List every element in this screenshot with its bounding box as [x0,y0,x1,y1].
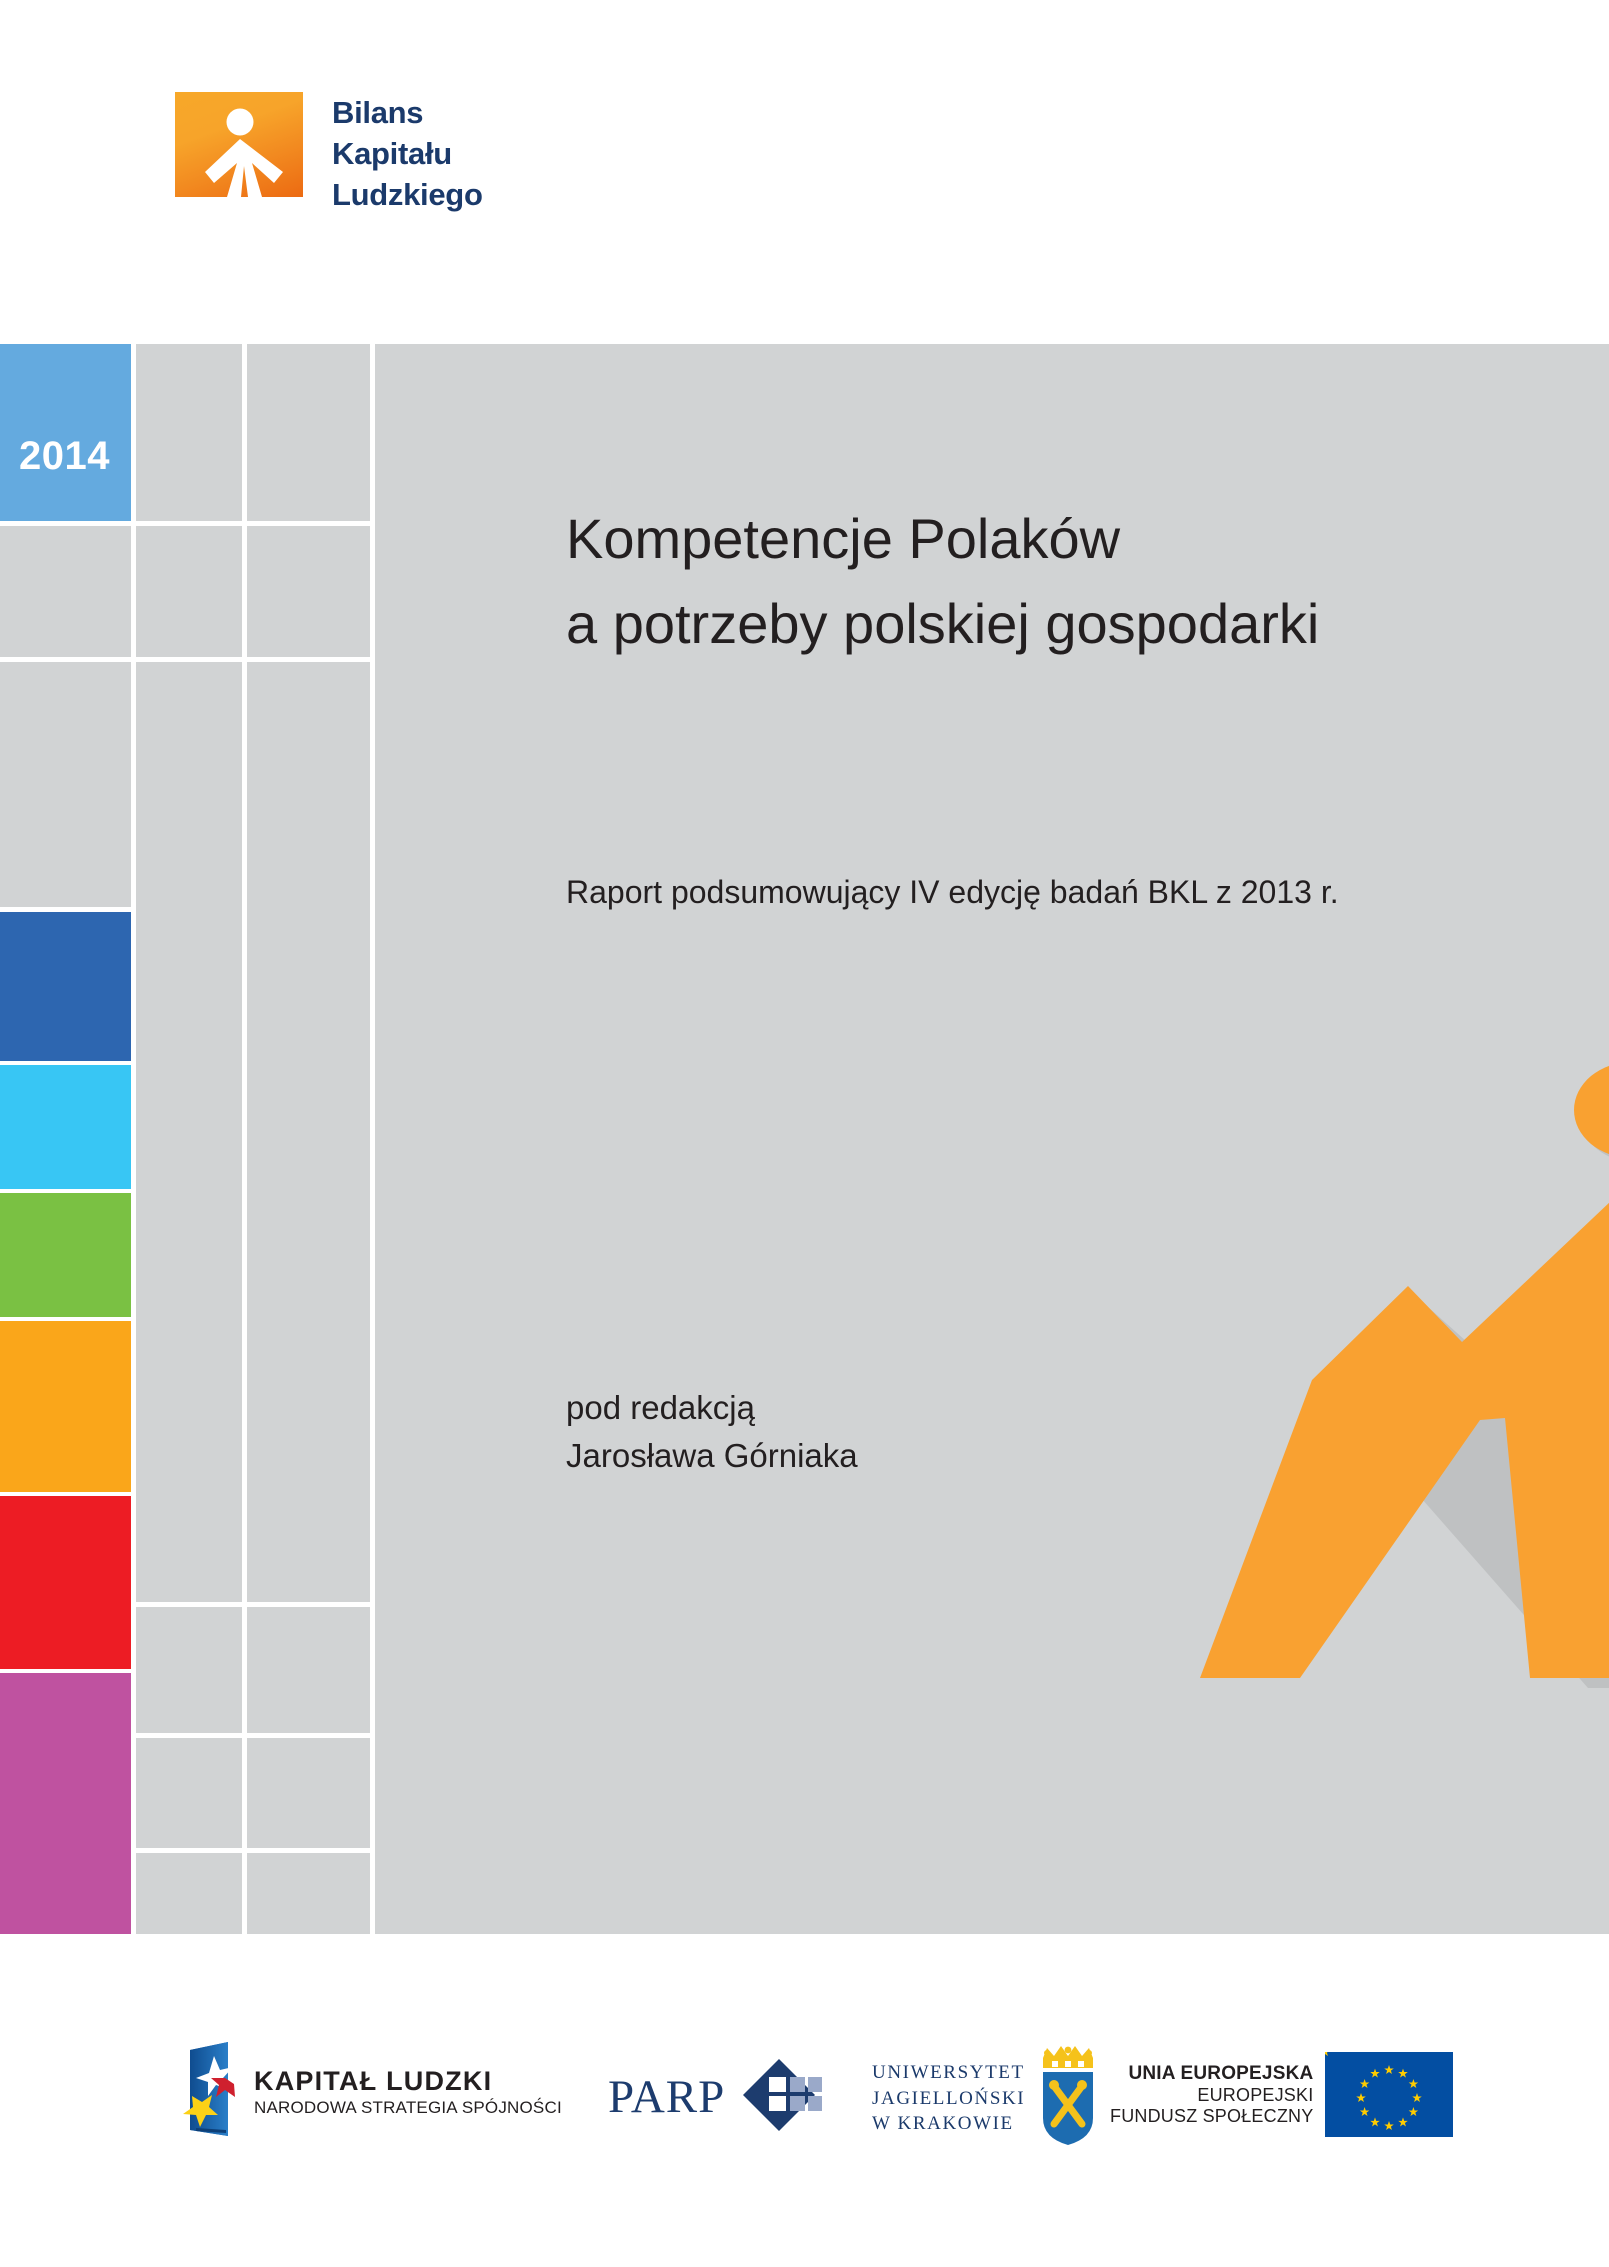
editor-line-2: Jarosława Górniaka [566,1432,858,1480]
kapital-ludzki-title: KAPITAŁ LUDZKI [254,2067,562,2095]
bkl-logo-text: Bilans Kapitału Ludzkiego [332,92,483,216]
eu-flag-icon [1325,2052,1453,2137]
bkl-logo: Bilans Kapitału Ludzkiego [175,92,483,216]
swatch-orange [0,1321,131,1492]
eu-line-2: EUROPEJSKI [1110,2085,1313,2106]
uj-line-3: W KRAKOWIE [872,2111,1025,2137]
editor-credit: pod redakcją Jarosława Górniaka [566,1384,858,1480]
page-subtitle: Raport podsumowujący IV edycję badań BKL… [566,874,1339,911]
parp-logo: PARP [608,2057,823,2138]
kapital-ludzki-subtitle: NARODOWA STRATEGIA SPÓJNOŚCI [254,2098,562,2118]
parp-diamond-icon [741,2057,823,2138]
eu-line-1: UNIA EUROPEJSKA [1110,2063,1313,2085]
year-badge: 2014 [0,344,131,521]
swatch-red [0,1496,131,1669]
brand-line-1: Bilans [332,92,483,133]
uj-logo: UNIWERSYTET JAGIELLOŃSKI W KRAKOWIE [872,2046,1099,2151]
stars-flag-icon [178,2040,240,2145]
grid-cell-c3-r6 [247,1853,370,1934]
eu-line-3: FUNDUSZ SPOŁECZNY [1110,2106,1313,2127]
cover-text-block: Kompetencje Polaków a potrzeby polskiej … [566,344,1566,1934]
page-title: Kompetencje Polaków a potrzeby polskiej … [566,496,1526,666]
grid-cell-c2-r2 [136,526,242,657]
grid-cell-c2-r5 [136,1738,242,1848]
brand-line-3: Ludzkiego [332,174,483,215]
uj-crest-icon [1037,2046,1099,2151]
title-line-1: Kompetencje Polaków [566,496,1526,581]
walking-person-arrow-icon [175,92,303,197]
grid-cell-c3-r5 [247,1738,370,1848]
grid-cell-c2-r6 [136,1853,242,1934]
year-badge-label: 2014 [19,434,110,479]
grid-cell-c3-r4 [247,1607,370,1733]
grid-cell-c1-r2 [0,526,131,657]
brand-line-2: Kapitału [332,133,483,174]
uj-line-1: UNIWERSYTET [872,2060,1025,2086]
grid-cell-c2-r3 [136,662,242,1602]
kapital-ludzki-logo: KAPITAŁ LUDZKI NARODOWA STRATEGIA SPÓJNO… [178,2040,562,2145]
swatch-dark-blue [0,912,131,1061]
swatch-cyan [0,1065,131,1189]
editor-line-1: pod redakcją [566,1384,858,1432]
footer-logo-bar: KAPITAŁ LUDZKI NARODOWA STRATEGIA SPÓJNO… [0,2020,1609,2180]
eu-efs-logo: UNIA EUROPEJSKA EUROPEJSKI FUNDUSZ SPOŁE… [1110,2052,1453,2137]
grid-cell-c3-r1 [247,344,370,521]
uj-line-2: JAGIELLOŃSKI [872,2086,1025,2112]
swatch-magenta [0,1673,131,1934]
parp-wordmark: PARP [608,2074,725,2121]
grid-cell-c1-r3 [0,662,131,907]
grid-cell-c3-r3 [247,662,370,1602]
title-line-2: a potrzeby polskiej gospodarki [566,581,1526,666]
grid-cell-c2-r1 [136,344,242,521]
grid-cell-c2-r4 [136,1607,242,1733]
swatch-green [0,1193,131,1317]
grid-cell-c3-r2 [247,526,370,657]
